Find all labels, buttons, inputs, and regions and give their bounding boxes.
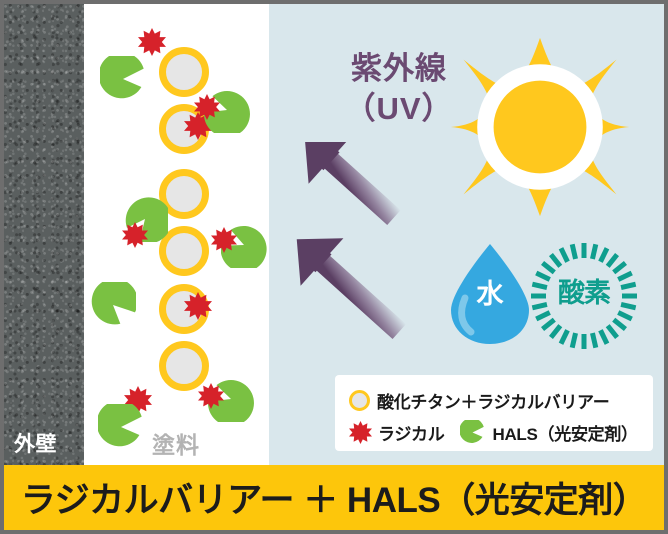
uv-ray-arrows-icon bbox=[292, 142, 462, 352]
radical-star-icon bbox=[194, 94, 220, 120]
uv-label: 紫外線 （UV） bbox=[309, 49, 489, 128]
uv-label-line1: 紫外線 bbox=[351, 51, 447, 86]
oxygen-label: 酸素 bbox=[528, 271, 640, 310]
titanium-dioxide-ring-icon bbox=[349, 390, 370, 411]
uv-label-line2: （UV） bbox=[309, 89, 489, 129]
legend-item-titanium-label: 酸化チタン＋ラジカルバリアー bbox=[377, 388, 609, 413]
infographic-root: 外壁 塗料 紫外線 （UV） bbox=[0, 0, 668, 534]
hals-pacman-icon bbox=[90, 282, 136, 328]
bottom-banner: ラジカルバリアー ＋ HALS（光安定剤） bbox=[4, 465, 664, 530]
legend-item-titanium: 酸化チタン＋ラジカルバリアー bbox=[349, 384, 653, 416]
radical-star-icon bbox=[122, 222, 148, 248]
legend-item-radical-label: ラジカル bbox=[378, 420, 444, 445]
radical-star-icon bbox=[211, 227, 237, 253]
hals-pacman-icon bbox=[460, 420, 485, 445]
titanium-dioxide-particle bbox=[159, 47, 209, 97]
radical-star-icon bbox=[198, 383, 224, 409]
bottom-banner-text: ラジカルバリアー ＋ HALS（光安定剤） bbox=[21, 472, 647, 523]
legend-item-radical-and-hals: ラジカル HALS（光安定剤） bbox=[349, 416, 653, 448]
exterior-wall-label: 外壁 bbox=[14, 428, 57, 458]
hals-pacman-icon bbox=[98, 404, 144, 450]
exterior-wall-panel bbox=[4, 4, 84, 465]
radical-star-icon bbox=[138, 28, 166, 56]
radical-star-icon bbox=[184, 292, 212, 320]
legend-item-hals-label: HALS（光安定剤） bbox=[492, 420, 637, 445]
paint-layer-label: 塗料 bbox=[152, 426, 200, 460]
water-label: 水 bbox=[447, 272, 533, 311]
hals-pacman-icon bbox=[100, 56, 146, 102]
legend-box: 酸化チタン＋ラジカルバリアー ラジカル HALS（光安定剤） bbox=[335, 375, 653, 451]
radical-star-icon bbox=[349, 421, 372, 444]
